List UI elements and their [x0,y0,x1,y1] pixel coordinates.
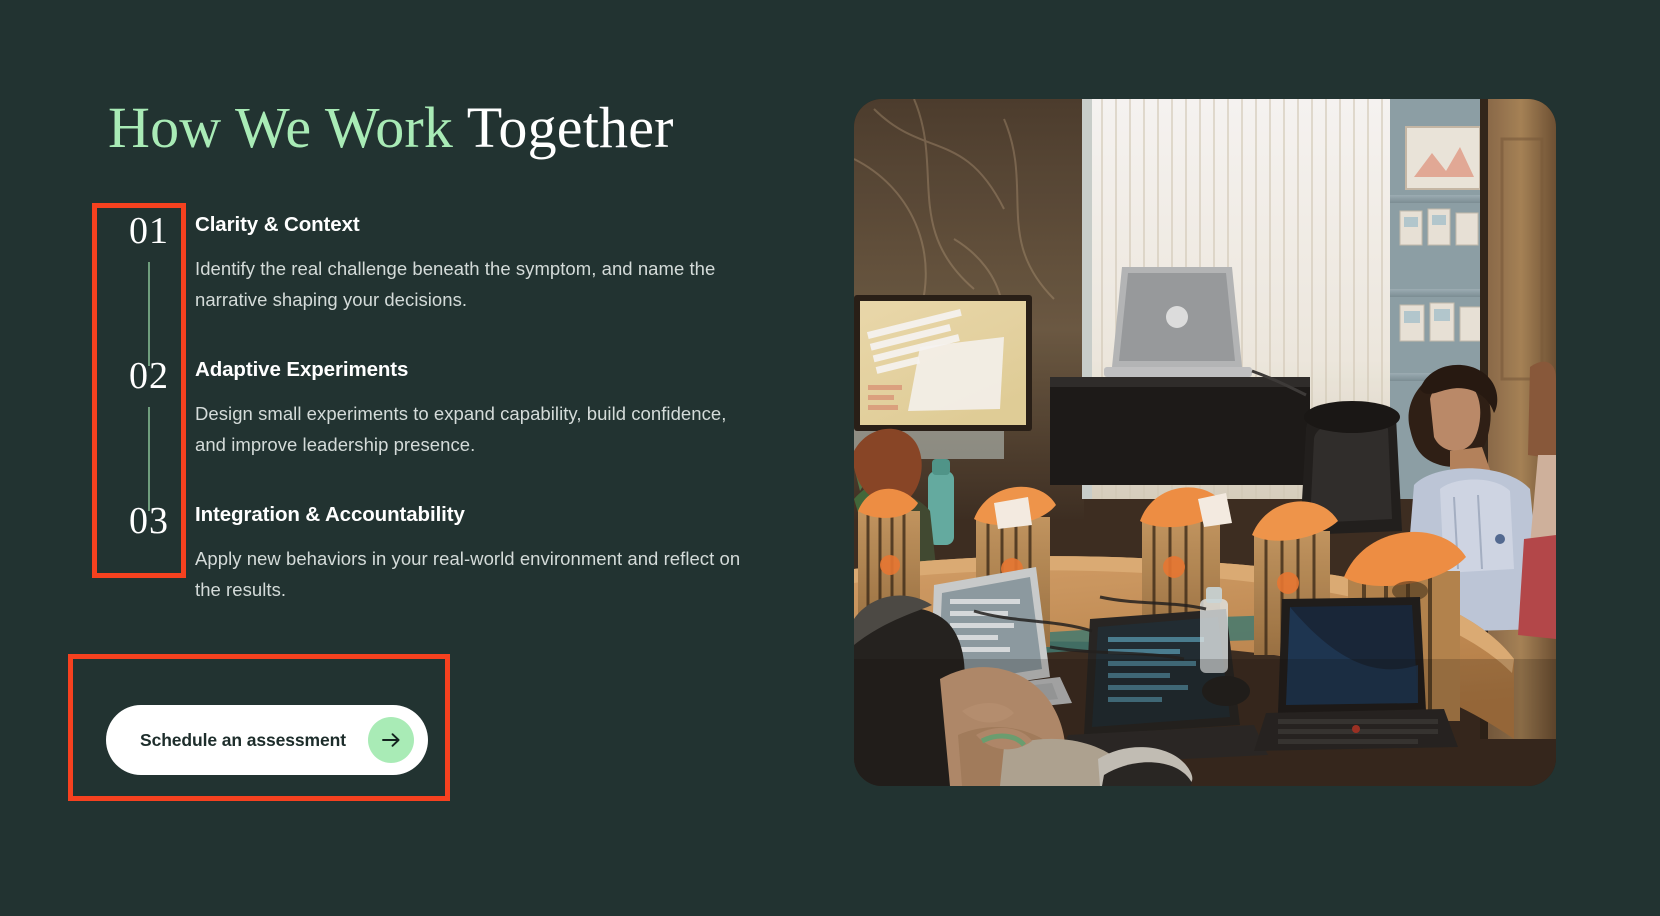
process-step: 01 Clarity & Context Identify the real c… [108,206,808,315]
page-root: How We Work Together 01 Clarity & Contex… [0,0,1660,916]
cta-container: Schedule an assessment [106,705,428,775]
step-description: Identify the real challenge beneath the … [195,253,760,315]
step-number: 01 [129,206,169,250]
process-steps-list: 01 Clarity & Context Identify the real c… [108,206,808,605]
arrow-right-icon [368,717,414,763]
step-description: Apply new behaviors in your real-world e… [195,543,760,605]
step-number-column: 03 [108,496,190,540]
schedule-assessment-button[interactable]: Schedule an assessment [106,705,428,775]
page-title-plain: Together [453,95,674,160]
step-number: 02 [129,351,169,395]
step-number: 03 [129,496,169,540]
process-step: 03 Integration & Accountability Apply ne… [108,496,808,605]
step-number-column: 02 [108,351,190,395]
headline-block: How We Work Together [108,96,788,161]
process-step: 02 Adaptive Experiments Design small exp… [108,351,808,460]
step-content: Adaptive Experiments Design small experi… [190,351,760,460]
page-title: How We Work Together [108,96,788,161]
conference-room-photo [854,99,1556,786]
step-title: Adaptive Experiments [195,358,760,382]
step-title: Integration & Accountability [195,503,760,527]
schedule-assessment-label: Schedule an assessment [140,730,346,751]
step-content: Integration & Accountability Apply new b… [190,496,760,605]
step-description: Design small experiments to expand capab… [195,398,760,460]
step-title: Clarity & Context [195,213,760,237]
step-number-column: 01 [108,206,190,250]
page-title-accent: How We Work [108,95,453,160]
photo-illustration [854,99,1556,786]
step-content: Clarity & Context Identify the real chal… [190,206,760,315]
